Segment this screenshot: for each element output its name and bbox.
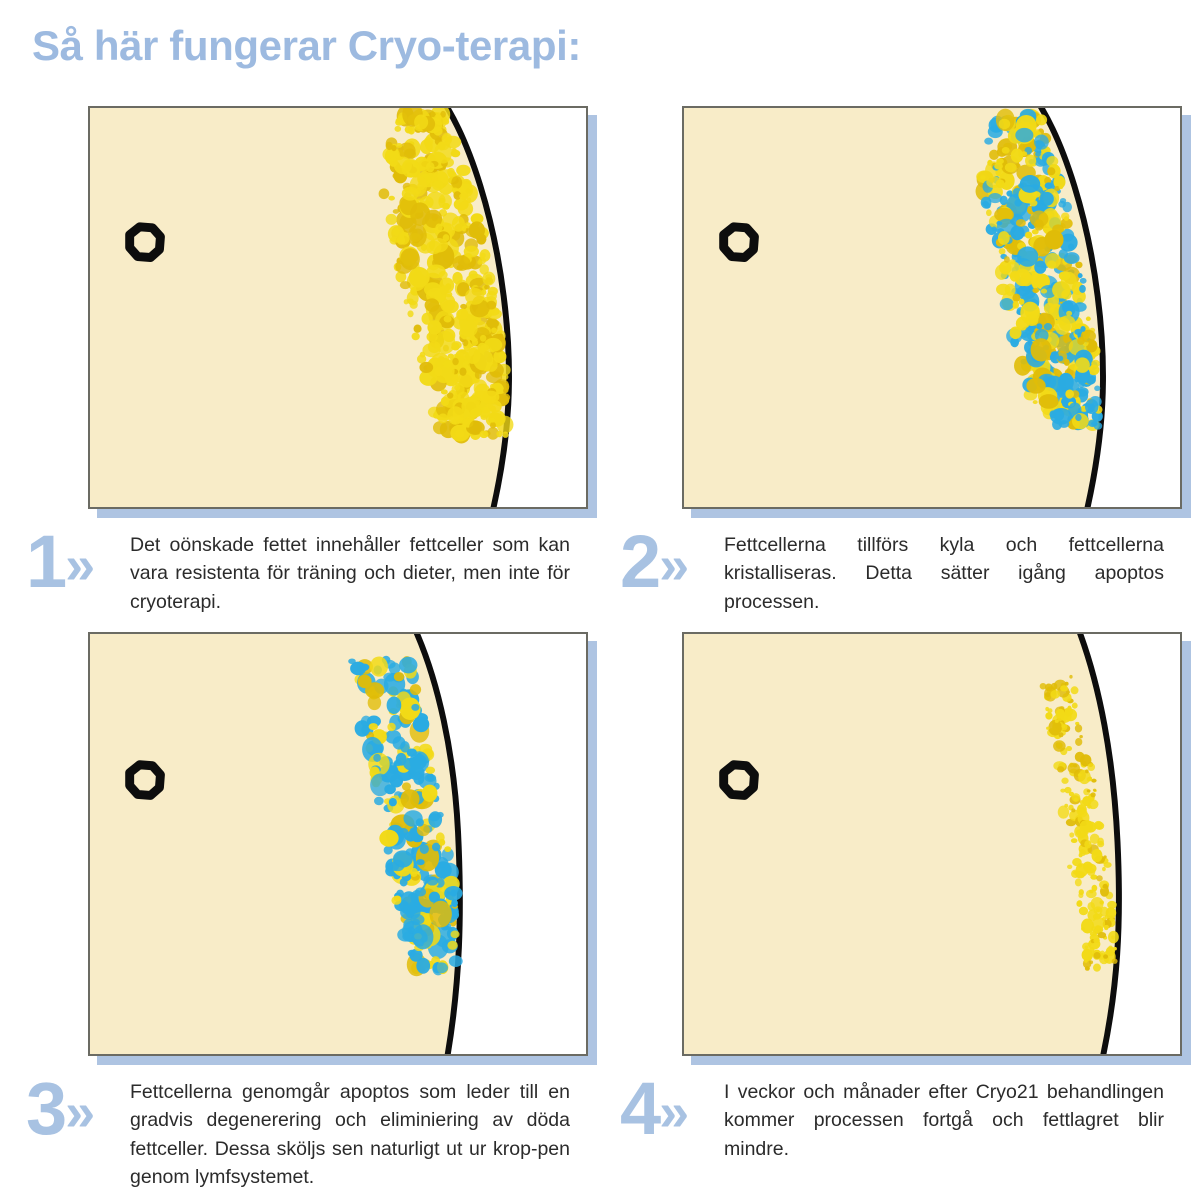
fat-cell (1025, 232, 1032, 239)
fat-cell (486, 371, 502, 383)
fat-cell (1073, 764, 1077, 767)
fat-cell (1036, 114, 1047, 125)
fat-cell (1087, 777, 1092, 781)
fat-cell (451, 930, 460, 938)
fat-cell (416, 859, 424, 865)
fat-cell (1059, 732, 1064, 737)
fat-cell (447, 406, 464, 424)
fat-cell (429, 813, 440, 821)
fat-cell (1060, 789, 1065, 793)
fat-cell (1040, 192, 1054, 206)
fat-cell (1079, 735, 1083, 738)
fat-cell (477, 260, 482, 265)
fat-cell (482, 391, 499, 404)
fat-cell (412, 333, 420, 341)
fat-cell (1091, 360, 1100, 368)
fat-cell (1078, 273, 1083, 278)
fat-cell (369, 723, 378, 730)
fat-cell (1089, 960, 1093, 964)
fat-cell (1075, 724, 1082, 732)
step-2-illustration-wrap (682, 106, 1182, 509)
fat-cell (400, 789, 419, 809)
fat-cell (1059, 315, 1076, 331)
fat-cell (1060, 198, 1066, 204)
fat-cell (355, 720, 371, 737)
fat-cell (1075, 738, 1082, 746)
step-3-illustration-wrap (88, 632, 588, 1056)
fat-cell (1064, 804, 1068, 808)
step-number: 4 (620, 1072, 661, 1146)
fat-cell (1072, 793, 1081, 802)
fat-cell (410, 684, 421, 695)
fat-cell (1111, 935, 1115, 939)
step-2-number-block: 2 » (620, 525, 689, 599)
fat-cell (999, 248, 1006, 255)
step-3: 3 » Fettcellerna genomgår apoptos som le… (88, 632, 598, 1192)
fat-cell (479, 430, 488, 438)
fat-cell (1045, 182, 1053, 189)
fat-cell (1078, 770, 1091, 784)
fat-layer-untreated-illustration (90, 108, 586, 507)
fat-cell (1031, 338, 1052, 361)
fat-cell (387, 696, 402, 714)
fat-cell (1017, 246, 1038, 266)
fat-cell (1036, 323, 1042, 329)
fat-cell (1082, 949, 1093, 961)
fat-cell (408, 950, 416, 957)
fat-cell (1026, 378, 1045, 394)
fat-cell (1045, 707, 1049, 711)
fat-cell (1032, 288, 1038, 293)
fat-cell (1033, 191, 1041, 197)
fat-cell (481, 289, 486, 295)
fat-cell (410, 202, 430, 226)
fat-cell (498, 352, 504, 358)
step-caption-text: I veckor och månader efter Cryo21 behand… (724, 1078, 1164, 1163)
fat-cell (1057, 713, 1064, 721)
fat-cell (980, 175, 986, 179)
fat-cell (1093, 938, 1099, 943)
fat-cell (445, 292, 452, 298)
fat-cell (433, 421, 447, 434)
step-1-panel (88, 106, 588, 509)
fat-cell (1096, 875, 1102, 881)
fat-cell (1004, 256, 1010, 263)
step-4-caption: 4 » I veckor och månader efter Cryo21 be… (682, 1078, 1192, 1163)
fat-cell (443, 134, 451, 142)
fat-cell (1108, 945, 1112, 950)
fat-cell (1016, 219, 1026, 227)
fat-cell (475, 371, 482, 379)
fat-cell (412, 924, 433, 949)
fat-cell (1090, 792, 1095, 797)
fat-cell (1064, 359, 1070, 366)
fat-cell (447, 941, 457, 950)
fat-cell (989, 150, 999, 160)
fat-cell (472, 339, 478, 345)
fat-cell (1069, 832, 1074, 837)
fat-cell (400, 878, 408, 886)
fat-cell (443, 234, 450, 241)
fat-cell (1075, 414, 1081, 421)
fat-cell (489, 417, 496, 422)
fat-cell (469, 221, 485, 239)
step-caption-text: Fettcellerna genomgår apoptos som leder … (130, 1078, 570, 1192)
fat-cell (389, 765, 398, 774)
fat-cell (1011, 148, 1023, 162)
step-4: 4 » I veckor och månader efter Cryo21 be… (682, 632, 1192, 1163)
fat-cell (1059, 271, 1070, 280)
fat-cell (992, 226, 997, 230)
fat-cell (1050, 690, 1060, 699)
fat-cell (373, 754, 381, 762)
fat-cell (1058, 806, 1069, 819)
fat-cell (1068, 763, 1080, 774)
fat-cell (438, 839, 445, 846)
fat-cell (388, 196, 395, 201)
step-3-panel (88, 632, 588, 1056)
fat-cell (435, 224, 442, 232)
fat-cell (428, 341, 441, 353)
fat-cell (1088, 942, 1092, 946)
fat-cell (1077, 337, 1085, 345)
fat-cell (1082, 796, 1091, 806)
fat-cell (370, 657, 388, 677)
fat-cell (1094, 422, 1103, 430)
fat-cell (1081, 919, 1094, 934)
fat-cell (447, 392, 453, 398)
fat-cell (444, 846, 451, 852)
fat-cell (1093, 964, 1101, 972)
step-number: 3 (26, 1072, 67, 1146)
fat-cell (1066, 311, 1072, 316)
fat-cell (1094, 821, 1103, 829)
fat-cell (486, 301, 496, 310)
fat-cell (432, 180, 443, 190)
fat-cell (1075, 752, 1085, 762)
fat-cell (1046, 727, 1050, 730)
fat-cell (1094, 952, 1101, 959)
fat-cell (407, 310, 413, 317)
fat-cell (1076, 830, 1081, 836)
fat-cell (465, 288, 484, 305)
fat-cell (452, 383, 465, 396)
fat-cell (426, 192, 446, 210)
fat-cell (365, 682, 384, 698)
fat-cell (406, 848, 415, 855)
fat-layer-reduced-illustration (684, 634, 1180, 1054)
fat-cell (1103, 954, 1108, 958)
fat-cell (449, 955, 463, 967)
fat-cell (457, 309, 468, 320)
fat-cell (393, 736, 406, 749)
chevron-right-icon: » (659, 1085, 689, 1139)
fat-cell (409, 267, 430, 288)
fat-cell (403, 758, 421, 771)
fat-cell (414, 324, 422, 332)
fat-cell (389, 798, 397, 807)
fat-cell (444, 316, 452, 323)
fat-cell (1030, 211, 1049, 227)
fat-cell (1085, 769, 1089, 773)
fat-cell (411, 704, 419, 711)
fat-cell (1077, 900, 1083, 907)
fat-cell (1079, 285, 1086, 293)
fat-cell (1071, 838, 1078, 843)
fat-cell (1022, 332, 1028, 338)
fat-cell (1061, 373, 1068, 380)
fat-cell (425, 298, 440, 312)
fat-cell (488, 287, 498, 296)
fat-cell (465, 189, 471, 194)
fat-cell (1078, 808, 1087, 818)
fat-cell (1079, 853, 1083, 857)
fat-cell (434, 142, 452, 164)
fat-cell (438, 413, 448, 423)
fat-cell (379, 830, 398, 847)
fat-cell (426, 767, 435, 774)
fat-cell (1113, 947, 1117, 951)
fat-cell (988, 193, 1002, 203)
fat-cell (398, 232, 409, 245)
fat-cell (374, 797, 384, 805)
fat-cell (395, 126, 402, 132)
step-2-panel (682, 106, 1182, 509)
fat-cell (1065, 389, 1074, 398)
fat-cell (1047, 260, 1056, 268)
fat-cell (1039, 394, 1059, 409)
step-1-number-block: 1 » (26, 525, 95, 599)
fat-cell (425, 774, 436, 782)
fat-cell (1066, 746, 1072, 751)
step-3-caption: 3 » Fettcellerna genomgår apoptos som le… (88, 1078, 598, 1192)
fat-cell (1044, 230, 1063, 250)
fat-cell (1064, 216, 1069, 221)
fat-cell (1075, 357, 1090, 372)
fat-cell (441, 397, 449, 406)
fat-cell (451, 176, 462, 189)
fat-cell (1093, 789, 1096, 792)
fat-cell (460, 304, 467, 309)
step-2: 2 » Fettcellerna tillförs kyla och fettc… (682, 106, 1192, 616)
fat-cell (1105, 915, 1109, 919)
fat-cell (462, 339, 468, 346)
fat-cell (469, 270, 478, 279)
fat-cell (459, 193, 468, 200)
fat-cell (451, 150, 461, 158)
fat-cell (996, 284, 1010, 295)
fat-cell (400, 281, 411, 289)
fat-cell (426, 876, 438, 885)
fat-cell (1053, 740, 1066, 751)
fat-cell (386, 214, 397, 225)
step-2-caption: 2 » Fettcellerna tillförs kyla och fettc… (682, 531, 1192, 616)
fat-cell (1013, 301, 1019, 309)
fat-cell (994, 163, 1003, 170)
fat-cell (1078, 893, 1083, 899)
fat-cell (984, 138, 993, 145)
fat-cell (1005, 163, 1017, 173)
fat-cell (391, 896, 401, 905)
fat-cell (416, 958, 430, 974)
fat-cell (444, 118, 450, 124)
fat-cell (496, 431, 502, 437)
fat-cell (1103, 884, 1108, 889)
fat-cell (1025, 155, 1036, 167)
fat-cell (459, 367, 466, 375)
fat-cell (419, 362, 433, 373)
fat-cell (1060, 685, 1068, 691)
fat-cell (1045, 712, 1052, 719)
chevron-right-icon: » (659, 538, 689, 592)
fat-cell (426, 162, 435, 172)
fat-cell (1019, 299, 1025, 305)
fat-cell (1095, 925, 1100, 930)
fat-cell (452, 255, 470, 270)
step-4-number-block: 4 » (620, 1072, 689, 1146)
fat-cell (452, 358, 458, 365)
fat-cell (429, 901, 451, 928)
fat-cell (1092, 849, 1103, 862)
fat-cell (387, 723, 395, 731)
chevron-right-icon: » (65, 538, 95, 592)
step-number: 2 (620, 525, 661, 599)
fat-cell (1061, 778, 1068, 784)
fat-cell (370, 774, 390, 797)
fat-cell (439, 271, 448, 279)
fat-cell (409, 175, 427, 196)
fat-cell (1089, 890, 1093, 894)
fat-cell (1000, 298, 1014, 310)
fat-cell (1102, 867, 1106, 871)
step-4-illustration-wrap (682, 632, 1182, 1056)
step-1-caption: 1 » Det oönskade fettet innehåller fettc… (88, 531, 598, 616)
fat-cell (456, 165, 470, 176)
fat-cell (359, 664, 369, 671)
fat-cell (1071, 686, 1079, 694)
fat-cell (441, 389, 448, 394)
fat-cell (422, 785, 438, 802)
fat-cell (1059, 184, 1064, 189)
step-1-illustration-wrap (88, 106, 588, 509)
fat-cell (986, 176, 1001, 188)
fat-cell (1050, 408, 1072, 425)
fat-cell (470, 408, 482, 417)
fat-cell (1041, 289, 1047, 294)
fat-cell (1031, 273, 1044, 286)
fat-cell (396, 143, 402, 148)
fat-cell (460, 320, 478, 337)
fat-cell (1071, 808, 1075, 812)
fat-cell (1072, 858, 1082, 866)
fat-cell (1104, 862, 1112, 868)
fat-cell (433, 126, 442, 135)
fat-cell (399, 657, 417, 674)
fat-cell (1002, 147, 1010, 154)
fat-cell (1080, 326, 1085, 332)
fat-cell (443, 360, 452, 368)
fat-cell (1020, 175, 1040, 193)
fat-cell (1087, 763, 1095, 771)
fat-cell (426, 241, 441, 255)
fat-cell (503, 388, 508, 393)
fat-cell (1046, 156, 1058, 166)
fat-cell (1069, 675, 1072, 679)
body-fill (684, 108, 1104, 507)
fat-cell (499, 393, 510, 402)
fat-cell (1064, 252, 1080, 264)
fat-cell (1084, 863, 1096, 873)
fat-cell (404, 299, 409, 304)
fat-cell (491, 328, 497, 333)
fat-cell (410, 868, 418, 877)
fat-cell (1090, 834, 1100, 844)
fat-cell (451, 341, 461, 349)
fat-cell (427, 320, 442, 334)
fat-cell (1035, 151, 1041, 156)
fat-cell (502, 432, 508, 438)
fat-cell (1040, 683, 1047, 689)
fat-cell (1075, 878, 1082, 886)
fat-cell (1061, 724, 1065, 728)
fat-cell (408, 224, 427, 247)
fat-cell (420, 844, 429, 854)
fat-cell (1045, 692, 1051, 697)
fat-cell (998, 231, 1010, 245)
fat-cell (1085, 945, 1088, 948)
fat-cell (1080, 820, 1094, 833)
fat-cell (1112, 958, 1118, 963)
chevron-right-icon: » (65, 1085, 95, 1139)
fat-cell (458, 201, 474, 216)
step-1: 1 » Det oönskade fettet innehåller fettc… (88, 106, 598, 616)
fat-layer-apoptosis-illustration (90, 634, 586, 1054)
fat-cell (411, 914, 425, 925)
step-number: 1 (26, 525, 67, 599)
fat-cell (388, 862, 399, 871)
fat-cell (1034, 134, 1049, 149)
fat-cell (1014, 269, 1030, 286)
fat-cell (465, 348, 480, 364)
fat-cell (1085, 399, 1099, 414)
fat-cell (1010, 327, 1022, 340)
fat-cell (1015, 128, 1033, 143)
fat-cell (986, 209, 992, 216)
fat-cell (435, 367, 443, 376)
fat-cell (490, 422, 496, 429)
fat-cell (488, 309, 502, 320)
fat-cell (1072, 703, 1078, 709)
steps-grid: 1 » Det oönskade fettet innehåller fettc… (0, 0, 1200, 1200)
fat-cell (1044, 303, 1055, 314)
fat-cell (414, 114, 428, 129)
fat-cell (1067, 706, 1071, 711)
fat-cell (1094, 386, 1100, 392)
fat-cell (484, 338, 502, 352)
step-caption-text: Det oönskade fettet innehåller fettcelle… (130, 531, 570, 616)
fat-cell (420, 139, 433, 154)
fat-cell (394, 672, 404, 681)
fat-cell (982, 201, 989, 206)
fat-cell (402, 159, 420, 178)
fat-cell (1057, 766, 1064, 772)
fat-cell (1076, 374, 1082, 379)
step-3-number-block: 3 » (26, 1072, 95, 1146)
fat-cell (442, 300, 458, 313)
step-caption-text: Fettcellerna tillförs kyla och fettcelle… (724, 531, 1164, 616)
fat-cell (1107, 901, 1117, 909)
fat-cell (444, 886, 462, 901)
